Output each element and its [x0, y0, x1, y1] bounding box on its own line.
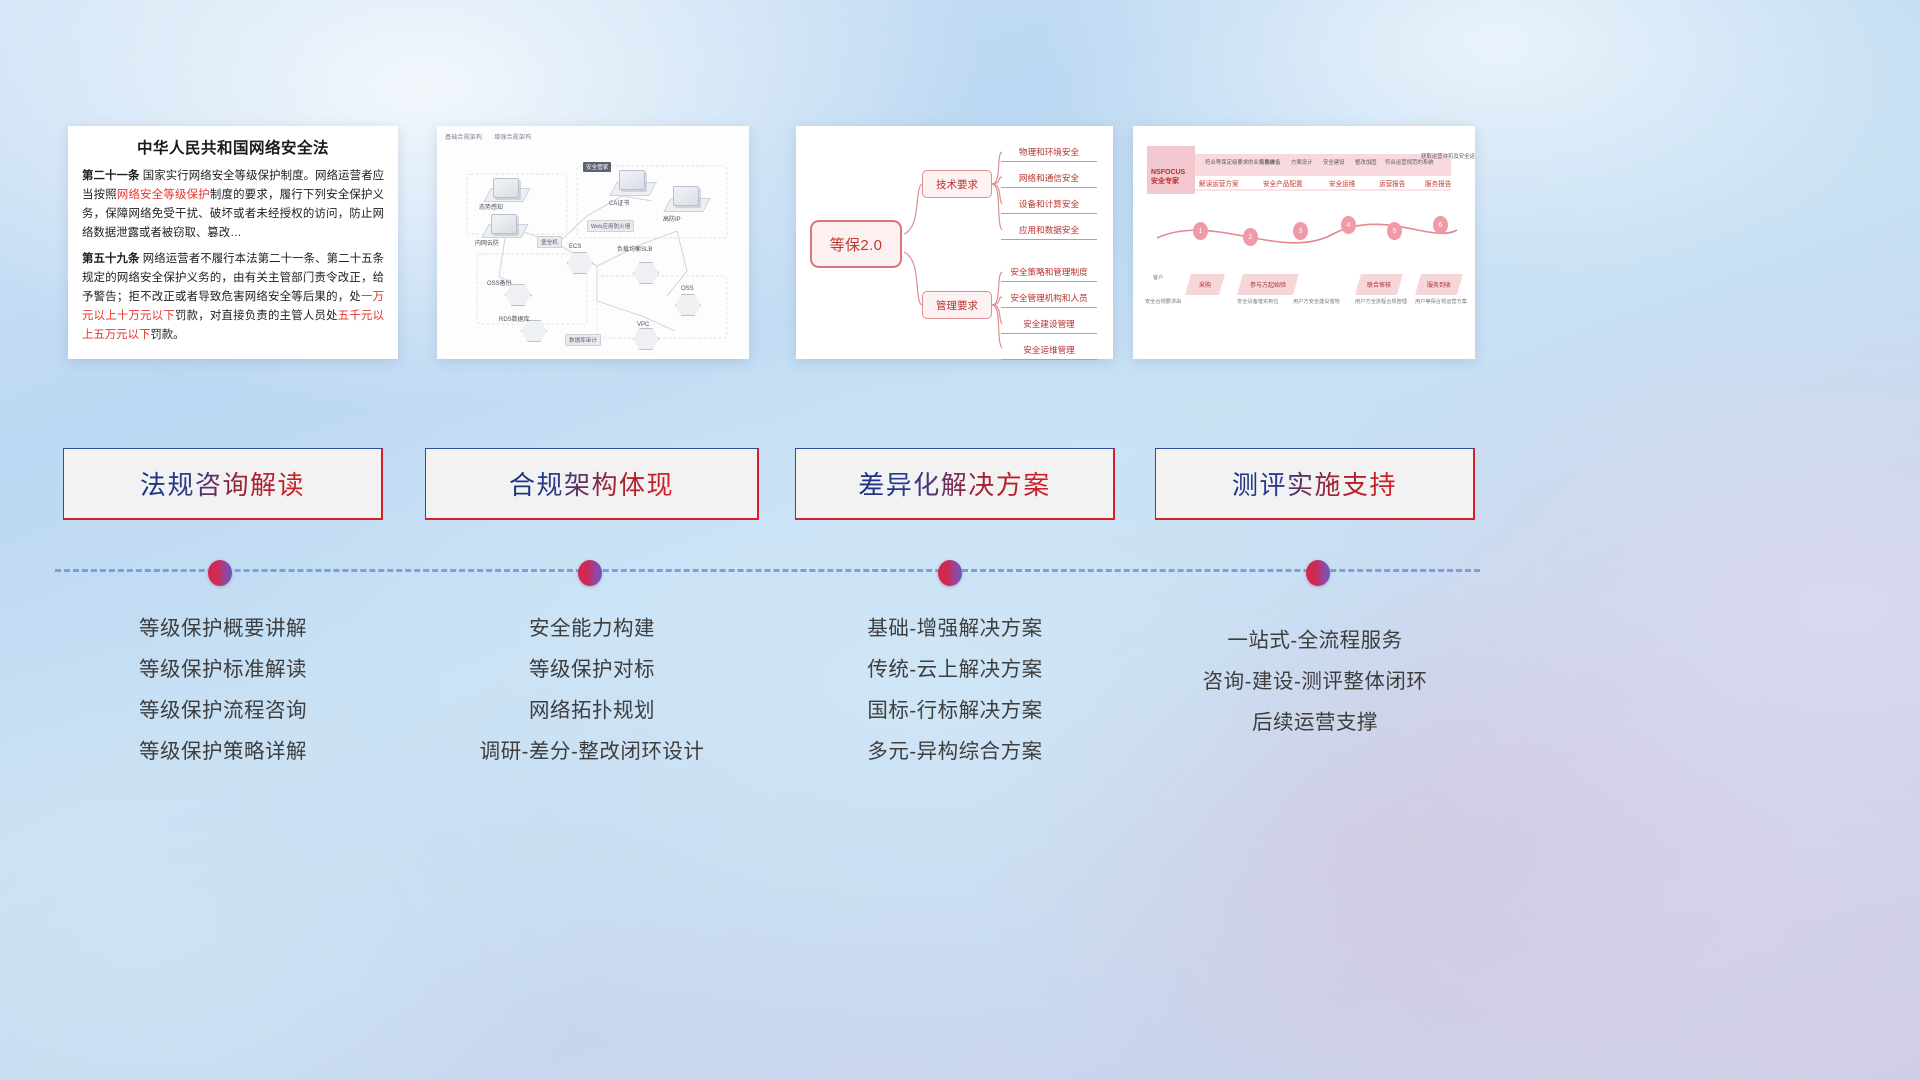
article-59-text-c: 罚款。 — [150, 329, 184, 341]
stage-product-config: 安全产品配置 — [1263, 178, 1303, 188]
chip-security-build: 安全建设 — [1323, 158, 1345, 166]
stage-security-ops: 安全运维 — [1329, 178, 1355, 188]
heading-label-compliance-architecture: 合规架构体现 — [509, 465, 674, 502]
nsfocus-brand-line2: 安全专家 — [1151, 178, 1179, 185]
list-column-differentiated-solution: 基础-增强解决方案 传统-云上解决方案 国标-行标解决方案 多元-异构综合方案 — [795, 608, 1115, 772]
list-item: 网络拓扑规划 — [425, 690, 759, 731]
list-column-regulation-consulting: 等级保护概要讲解 等级保护标准解读 等级保护流程咨询 等级保护策略详解 — [63, 608, 383, 772]
timeline-node-4: 4 — [1341, 216, 1356, 234]
mindmap-branch-management: 管理要求 — [922, 291, 992, 319]
timeline-node-5: 5 — [1387, 222, 1402, 240]
label-situational-awareness: 态势感知 — [479, 202, 503, 211]
law-article-21: 第二十一条 国家实行网络安全等级保护制度。网络运营者应当按照网络安全等级保护制度… — [82, 167, 384, 244]
list-item: 多元-异构综合方案 — [795, 731, 1115, 772]
heading-box-regulation-consulting[interactable]: 法规咨询解读 — [63, 448, 383, 520]
node-tag-db-audit: 数据库审计 — [565, 334, 601, 346]
list-item: 调研-差分-整改闭环设计 — [425, 731, 759, 772]
node-ca-host — [619, 170, 645, 190]
chip-rectify-harden: 整改加固 — [1355, 158, 1377, 166]
timeline-node-1: 1 — [1193, 222, 1208, 240]
mindmap-leaf-policy-system: 安全策略和管理制度 — [1001, 266, 1097, 282]
heading-label-assessment-support: 测评实施支持 — [1232, 465, 1397, 502]
timeline-dot-2[interactable] — [578, 560, 602, 586]
article-21-label: 第二十一条 — [82, 170, 139, 182]
list-item: 等级保护对标 — [425, 649, 759, 690]
law-article-59: 第五十九条 网络运营者不履行本法第二十一条、第二十五条规定的网络安全保护义务的，… — [82, 250, 384, 346]
list-item: 等级保护流程咨询 — [63, 690, 383, 731]
label-vpc: VPC — [637, 322, 649, 328]
chip-implementation-prep: 实施准备 — [1259, 158, 1281, 166]
heading-label-differentiated-solution: 差异化解决方案 — [858, 465, 1051, 502]
heading-box-compliance-architecture[interactable]: 合规架构体现 — [425, 448, 759, 520]
ribbon-procurement: 采购 — [1185, 274, 1225, 295]
chip-operation-license: 获取运营许可及安全运营指南 — [1421, 152, 1475, 160]
heading-label-regulation-consulting: 法规咨询解读 — [140, 465, 305, 502]
mindmap-branch-technical: 技术要求 — [922, 170, 992, 198]
stage-ops-report: 运营报告 — [1379, 178, 1405, 188]
label-ecs: ECS — [569, 244, 581, 250]
mindmap-leaf-app-data: 应用和数据安全 — [1001, 224, 1097, 240]
list-item: 后续运营支撑 — [1155, 702, 1475, 743]
mindmap-leaf-physical-env: 物理和环境安全 — [1001, 146, 1097, 162]
list-item: 等级保护标准解读 — [63, 649, 383, 690]
mindmap-leaf-device-compute: 设备和计算安全 — [1001, 198, 1097, 214]
law-title: 中华人民共和国网络安全法 — [82, 136, 384, 158]
list-column-assessment-support: 一站式-全流程服务 咨询-建设-测评整体闭环 后续运营支撑 — [1155, 620, 1475, 743]
list-item: 国标-行标解决方案 — [795, 690, 1115, 731]
law-text-block: 中华人民共和国网络安全法 第二十一条 国家实行网络安全等级保护制度。网络运营者应… — [68, 126, 398, 345]
node-tag-bastion: 堡垒机 — [537, 236, 562, 248]
label-ca-host: CA证书 — [609, 198, 629, 207]
card-mindmap-dengbao[interactable]: 等保2.0 技术要求 物理和环境安全 网络和通信安全 设备和计算安全 应用和数据… — [796, 126, 1113, 359]
timeline-dot-1[interactable] — [208, 560, 232, 586]
timeline-node-2: 2 — [1243, 228, 1258, 246]
heading-box-differentiated-solution[interactable]: 差异化解决方案 — [795, 448, 1115, 520]
card-cybersecurity-law[interactable]: 中华人民共和国网络安全法 第二十一条 国家实行网络安全等级保护制度。网络运营者应… — [68, 126, 398, 359]
architecture-diagram: 基础合规架构 增强合规架构 — [437, 126, 749, 359]
node-tag-security-manager: 安全管家 — [583, 162, 611, 172]
list-item: 一站式-全流程服务 — [1155, 620, 1475, 661]
list-item: 基础-增强解决方案 — [795, 608, 1115, 649]
foot-note-ops-scheme: 用户等保合规运营方案 — [1415, 298, 1467, 305]
ribbon-joint-start-review: 参与方起始验 — [1237, 274, 1299, 295]
foot-note-device-inplace: 安全设备落实到位 — [1237, 298, 1279, 305]
foot-note-build-landing: 用户方安全建设落地 — [1293, 298, 1340, 305]
nsfocus-brand-line1: NSFOCUS — [1151, 169, 1185, 176]
label-oss-backup: OSS备份 — [487, 278, 512, 287]
label-intranet-cloud-defense: 内网云防 — [475, 238, 499, 247]
timeline-dashed-line — [55, 569, 1480, 572]
chip-solution-design: 方案设计 — [1291, 158, 1313, 166]
node-tag-waf: Web应用防火墙 — [587, 220, 634, 232]
nsfocus-brand: NSFOCUS 安全专家 — [1151, 168, 1185, 187]
article-59-text-b: 罚款，对直接负责的主管人员处 — [175, 310, 338, 322]
node-high-defense-ip — [673, 186, 699, 206]
mindmap-leaf-network-comm: 网络和通信安全 — [1001, 172, 1097, 188]
mindmap-leaf-org-personnel: 安全管理机构和人员 — [1001, 292, 1097, 308]
node-situational-awareness — [493, 178, 519, 198]
ribbon-service-delivery: 服务到收 — [1415, 274, 1463, 295]
node-intranet-cloud-defense — [491, 214, 517, 234]
label-oss: OSS — [681, 286, 694, 292]
list-item: 等级保护策略详解 — [63, 731, 383, 772]
list-column-compliance-architecture: 安全能力构建 等级保护对标 网络拓扑规划 调研-差分-整改闭环设计 — [425, 608, 759, 772]
timeline-node-6: 6 — [1433, 216, 1448, 234]
label-slb: 负载均衡SLB — [617, 244, 652, 253]
nsfocus-diagram: NSFOCUS 安全专家 符合等保定级要求的业务系统 实施准备 方案设计 安全建… — [1133, 126, 1475, 359]
card-nsfocus-timeline[interactable]: NSFOCUS 安全专家 符合等保定级要求的业务系统 实施准备 方案设计 安全建… — [1133, 126, 1475, 359]
list-row: 等级保护概要讲解 等级保护标准解读 等级保护流程咨询 等级保护策略详解 安全能力… — [0, 608, 1920, 808]
mindmap-leaf-construction-mgmt: 安全建设管理 — [1001, 318, 1097, 334]
list-item: 咨询-建设-测评整体闭环 — [1155, 661, 1475, 702]
foot-compliance-owner: 安全合规要求由 — [1145, 298, 1181, 305]
card-cloud-architecture[interactable]: 基础合规架构 增强合规架构 — [437, 126, 749, 359]
label-rds: RDS数据库 — [499, 314, 530, 323]
list-item: 安全能力构建 — [425, 608, 759, 649]
timeline-track — [0, 560, 1920, 584]
stage-service-report: 服务报告 — [1425, 178, 1451, 188]
article-59-label: 第五十九条 — [82, 253, 139, 265]
timeline-dot-4[interactable] — [1306, 560, 1330, 586]
mindmap: 等保2.0 技术要求 物理和环境安全 网络和通信安全 设备和计算安全 应用和数据… — [796, 126, 1113, 359]
article-21-highlight: 网络安全等级保护 — [117, 189, 210, 201]
list-item: 等级保护概要讲解 — [63, 608, 383, 649]
ribbon-joint-review: 联合审核 — [1355, 274, 1403, 295]
timeline-node-3: 3 — [1293, 222, 1308, 240]
list-item: 传统-云上解决方案 — [795, 649, 1115, 690]
heading-box-assessment-support[interactable]: 测评实施支持 — [1155, 448, 1475, 520]
card-row: 中华人民共和国网络安全法 第二十一条 国家实行网络安全等级保护制度。网络运营者应… — [0, 126, 1920, 360]
label-high-defense-ip: 高防IP — [663, 214, 681, 223]
foot-customer: 客户 — [1153, 274, 1163, 281]
heading-row: 法规咨询解读 合规架构体现 差异化解决方案 测评实施支持 — [0, 448, 1920, 520]
foot-note-full-compliance: 用户方全流程合规管理 — [1355, 298, 1407, 305]
mindmap-leaf-ops-mgmt: 安全运维管理 — [1001, 344, 1097, 360]
timeline-dot-3[interactable] — [938, 560, 962, 586]
mindmap-root-node: 等保2.0 — [810, 220, 902, 268]
stage-solution-interpretation: 解读运营方案 — [1199, 178, 1239, 188]
